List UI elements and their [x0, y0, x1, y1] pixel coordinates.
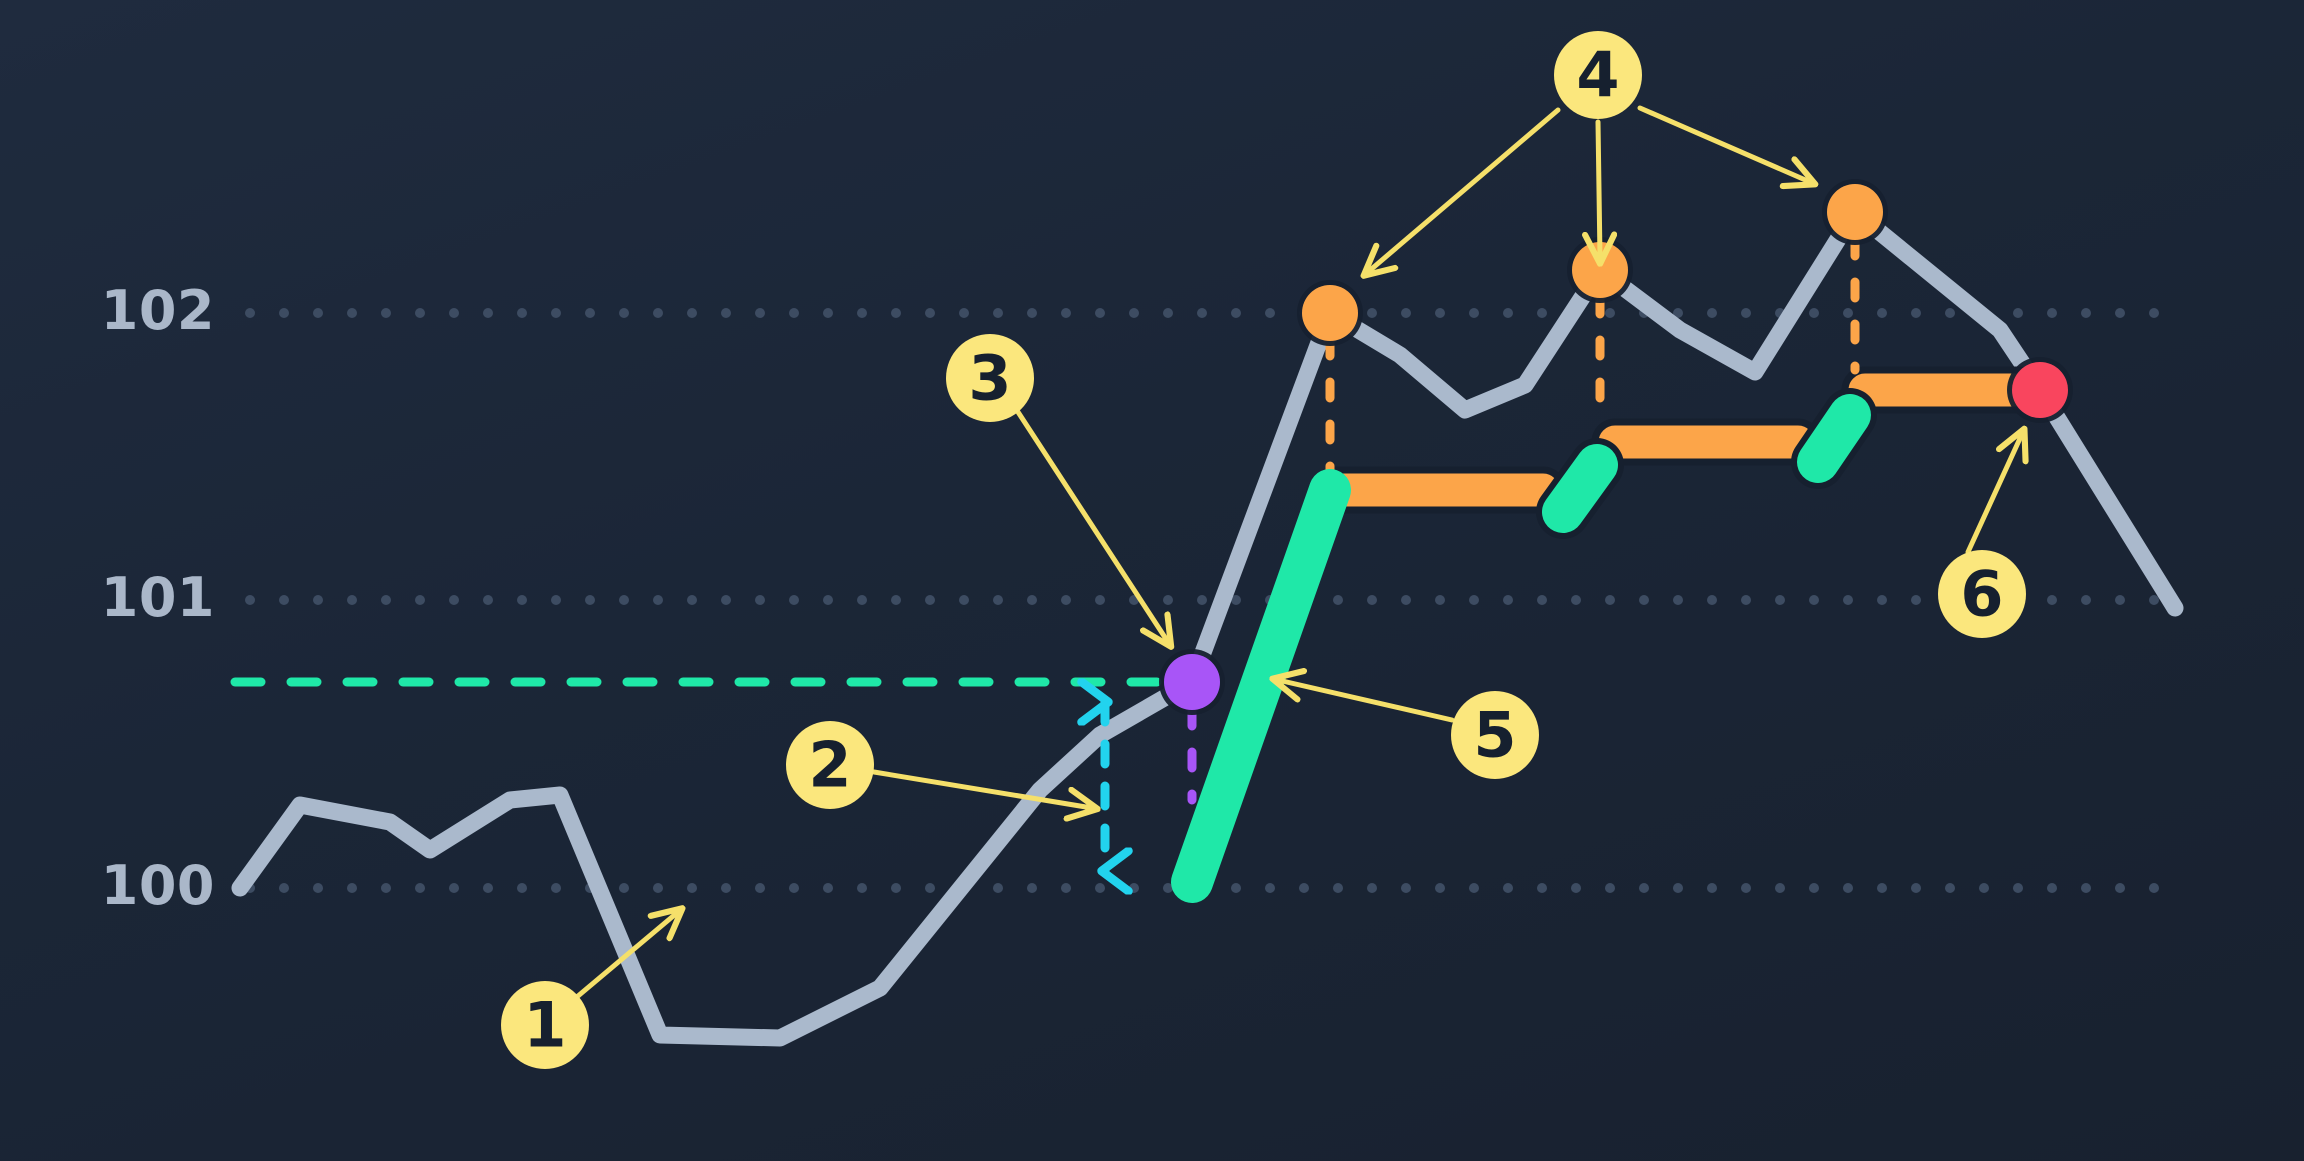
grid-dot [993, 595, 1003, 605]
grid-dot [483, 883, 493, 893]
grid-dot [619, 308, 629, 318]
grid-dot [1775, 595, 1785, 605]
annotation-arrow-1 [578, 912, 678, 996]
grid-dot [1911, 595, 1921, 605]
grid-dot [2081, 308, 2091, 318]
grid-dot [1061, 595, 1071, 605]
grid-dot [2115, 595, 2125, 605]
price-line-path [240, 212, 2175, 1038]
grid-dot [551, 595, 561, 605]
grid-dot [279, 883, 289, 893]
grid-dot [1673, 883, 1683, 893]
grid-dot [347, 595, 357, 605]
grid-dot [857, 883, 867, 893]
grid-dot [857, 595, 867, 605]
peak-dot-3 [1827, 184, 1883, 240]
grid-dot [1741, 595, 1751, 605]
grid-dot [789, 595, 799, 605]
grid-dot [381, 595, 391, 605]
grid-dot [1911, 883, 1921, 893]
annotation-badges-group: 123456 [501, 31, 2026, 1069]
annotation-arrow-6 [1968, 434, 2022, 552]
grid-dot [1537, 308, 1547, 318]
grid-dot [1877, 308, 1887, 318]
grid-dot [1571, 595, 1581, 605]
grid-dot [449, 883, 459, 893]
grid-dot [1061, 308, 1071, 318]
grid-dot [313, 308, 323, 318]
grid-dot [2047, 595, 2057, 605]
grid-dot [823, 595, 833, 605]
grid-dot [1231, 308, 1241, 318]
grid-dot [1231, 883, 1241, 893]
grid-dot [653, 308, 663, 318]
grid-dot [1843, 595, 1853, 605]
grid-dot [1707, 883, 1717, 893]
chart-canvas: 123456 102101100 [0, 0, 2304, 1161]
annotation-badge-5-label: 5 [1473, 699, 1516, 772]
grid-dot [1809, 883, 1819, 893]
grid-dot [1469, 308, 1479, 318]
grid-dot [619, 595, 629, 605]
grid-dot [517, 595, 527, 605]
grid-dot [1061, 883, 1071, 893]
grid-dot [585, 308, 595, 318]
grid-dot [2047, 308, 2057, 318]
grid-dot [2149, 308, 2159, 318]
grid-dot [1537, 883, 1547, 893]
annotation-badge-4-label: 4 [1576, 39, 1619, 112]
grid-dot [2013, 308, 2023, 318]
grid-dot [891, 595, 901, 605]
connector-1 [1563, 465, 1597, 512]
grid-dot [1469, 883, 1479, 893]
grid-dot [721, 595, 731, 605]
grid-dot [891, 308, 901, 318]
grid-dot [1809, 595, 1819, 605]
grid-dot [1163, 308, 1173, 318]
grid-dot [313, 595, 323, 605]
peak-dot-1 [1302, 285, 1358, 341]
grid-dot [1945, 883, 1955, 893]
annotation-badge-5[interactable]: 5 [1451, 691, 1539, 779]
annotation-badge-6-label: 6 [1960, 558, 2003, 631]
grid-dot [1537, 595, 1547, 605]
grid-dot [415, 595, 425, 605]
grid-dot [1605, 595, 1615, 605]
grid-dot [1571, 883, 1581, 893]
grid-dot [959, 308, 969, 318]
grid-dot [925, 595, 935, 605]
grid-dot [1095, 883, 1105, 893]
grid-dot [1265, 883, 1275, 893]
grid-dot [449, 308, 459, 318]
grid-dot [1401, 308, 1411, 318]
grid-dot [721, 308, 731, 318]
annotation-arrow-4-1 [1368, 110, 1558, 272]
y-axis-tick-100: 100 [35, 854, 215, 917]
stop-bar-2 [1595, 422, 1818, 462]
y-axis-tick-102: 102 [35, 279, 215, 342]
grid-dot [1639, 595, 1649, 605]
grid-dot [1333, 595, 1343, 605]
grid-dot [1945, 308, 1955, 318]
grid-dot [2081, 883, 2091, 893]
grid-dot [925, 883, 935, 893]
grid-dot [959, 595, 969, 605]
grid-dot [1367, 308, 1377, 318]
grid-dot [1605, 308, 1615, 318]
entry-dot [1164, 654, 1220, 710]
connector-2 [1818, 415, 1850, 462]
grid-dot [2149, 595, 2159, 605]
stop-bars-group [1315, 370, 2040, 510]
grid-dot [1673, 595, 1683, 605]
grid-dot [687, 595, 697, 605]
grid-dot [551, 308, 561, 318]
grid-dot [279, 595, 289, 605]
grid-dot [1707, 308, 1717, 318]
grid-dot [2013, 883, 2023, 893]
grid-dot [381, 883, 391, 893]
grid-dot [381, 308, 391, 318]
grid-dot [415, 883, 425, 893]
grid-dot [1197, 308, 1207, 318]
grid-dot [245, 595, 255, 605]
grid-dot [823, 883, 833, 893]
chart-svg: 123456 [0, 0, 2304, 1161]
grid-dot [1435, 308, 1445, 318]
grid-dot [551, 883, 561, 893]
grid-dot [1911, 308, 1921, 318]
grid-dot [1741, 883, 1751, 893]
grid-dot [1367, 595, 1377, 605]
grid-dot [279, 308, 289, 318]
grid-dot [1877, 595, 1887, 605]
grid-dot [1503, 595, 1513, 605]
grid-dot [1435, 595, 1445, 605]
grid-dot [789, 883, 799, 893]
grid-dot [1843, 883, 1853, 893]
grid-dot [1741, 308, 1751, 318]
grid-dot [1367, 883, 1377, 893]
grid-dot [415, 308, 425, 318]
grid-dot [1843, 308, 1853, 318]
grid-dot [789, 308, 799, 318]
grid-dot [1299, 883, 1309, 893]
grid-dot [1027, 883, 1037, 893]
grid-dot [891, 883, 901, 893]
grid-dot [1265, 308, 1275, 318]
grid-dot [1979, 883, 1989, 893]
exit-dot [2012, 362, 2068, 418]
grid-dot [1197, 595, 1207, 605]
grid-dot [1707, 595, 1717, 605]
grid-dot [2115, 308, 2125, 318]
annotation-badge-4[interactable]: 4 [1554, 31, 1642, 119]
grid-dot [653, 595, 663, 605]
grid-dot [993, 883, 1003, 893]
annotation-badge-3[interactable]: 3 [946, 334, 1034, 422]
grid-dot [1775, 883, 1785, 893]
grid-dot [1095, 308, 1105, 318]
grid-dot [1877, 883, 1887, 893]
grid-dot [1163, 595, 1173, 605]
annotation-badge-1[interactable]: 1 [501, 981, 589, 1069]
annotation-badge-1-label: 1 [523, 989, 566, 1062]
grid-dot [483, 308, 493, 318]
grid-dot [1435, 883, 1445, 893]
grid-dot [687, 308, 697, 318]
grid-dot [245, 308, 255, 318]
grid-dot [1503, 883, 1513, 893]
grid-dot-row-1 [245, 595, 2159, 605]
grid-dot [857, 308, 867, 318]
grid-dot [585, 595, 595, 605]
annotation-arrow-3 [1018, 412, 1168, 642]
grid-dot [1469, 595, 1479, 605]
grid-dot [755, 883, 765, 893]
grid-dot [1027, 308, 1037, 318]
grid-dot [1129, 883, 1139, 893]
grid-dot [687, 883, 697, 893]
annotation-arrow-4-2 [1598, 122, 1600, 258]
grid-dot [1605, 883, 1615, 893]
grid-dot [517, 308, 527, 318]
grid-dot [1401, 595, 1411, 605]
grid-dot-row-0 [245, 308, 2159, 318]
grid-dot [755, 308, 765, 318]
grid-dot [2115, 883, 2125, 893]
grid-dot [449, 595, 459, 605]
grid-dot [1639, 883, 1649, 893]
annotation-badge-3-label: 3 [968, 342, 1011, 415]
annotation-badge-2-label: 2 [808, 729, 851, 802]
price-line [240, 212, 2175, 1038]
grid-dot [925, 308, 935, 318]
grid-dot [721, 883, 731, 893]
grid-dot [993, 308, 1003, 318]
grid-dot [2047, 883, 2057, 893]
annotation-arrow-5 [1278, 680, 1452, 720]
y-axis-tick-101: 101 [35, 566, 215, 629]
grid-dot [2081, 595, 2091, 605]
grid-dot [2149, 883, 2159, 893]
grid-dot [1809, 308, 1819, 318]
grid-dot [347, 308, 357, 318]
grid-dot [483, 595, 493, 605]
grid-dot [1027, 595, 1037, 605]
grid-dot [313, 883, 323, 893]
grid-dot [1503, 308, 1513, 318]
grid-dot [755, 595, 765, 605]
grid-dot [1333, 883, 1343, 893]
grid-dot [517, 883, 527, 893]
stop-bar-1 [1315, 470, 1563, 510]
annotation-arrow-4-3 [1640, 108, 1810, 182]
grid-dot [1095, 595, 1105, 605]
grid-dot [653, 883, 663, 893]
grid-dot [1401, 883, 1411, 893]
grid-dot [823, 308, 833, 318]
grid-dot [619, 883, 629, 893]
annotation-badge-2[interactable]: 2 [786, 721, 874, 809]
annotation-badge-6[interactable]: 6 [1938, 550, 2026, 638]
grid-dot [347, 883, 357, 893]
grid-dot [1129, 308, 1139, 318]
